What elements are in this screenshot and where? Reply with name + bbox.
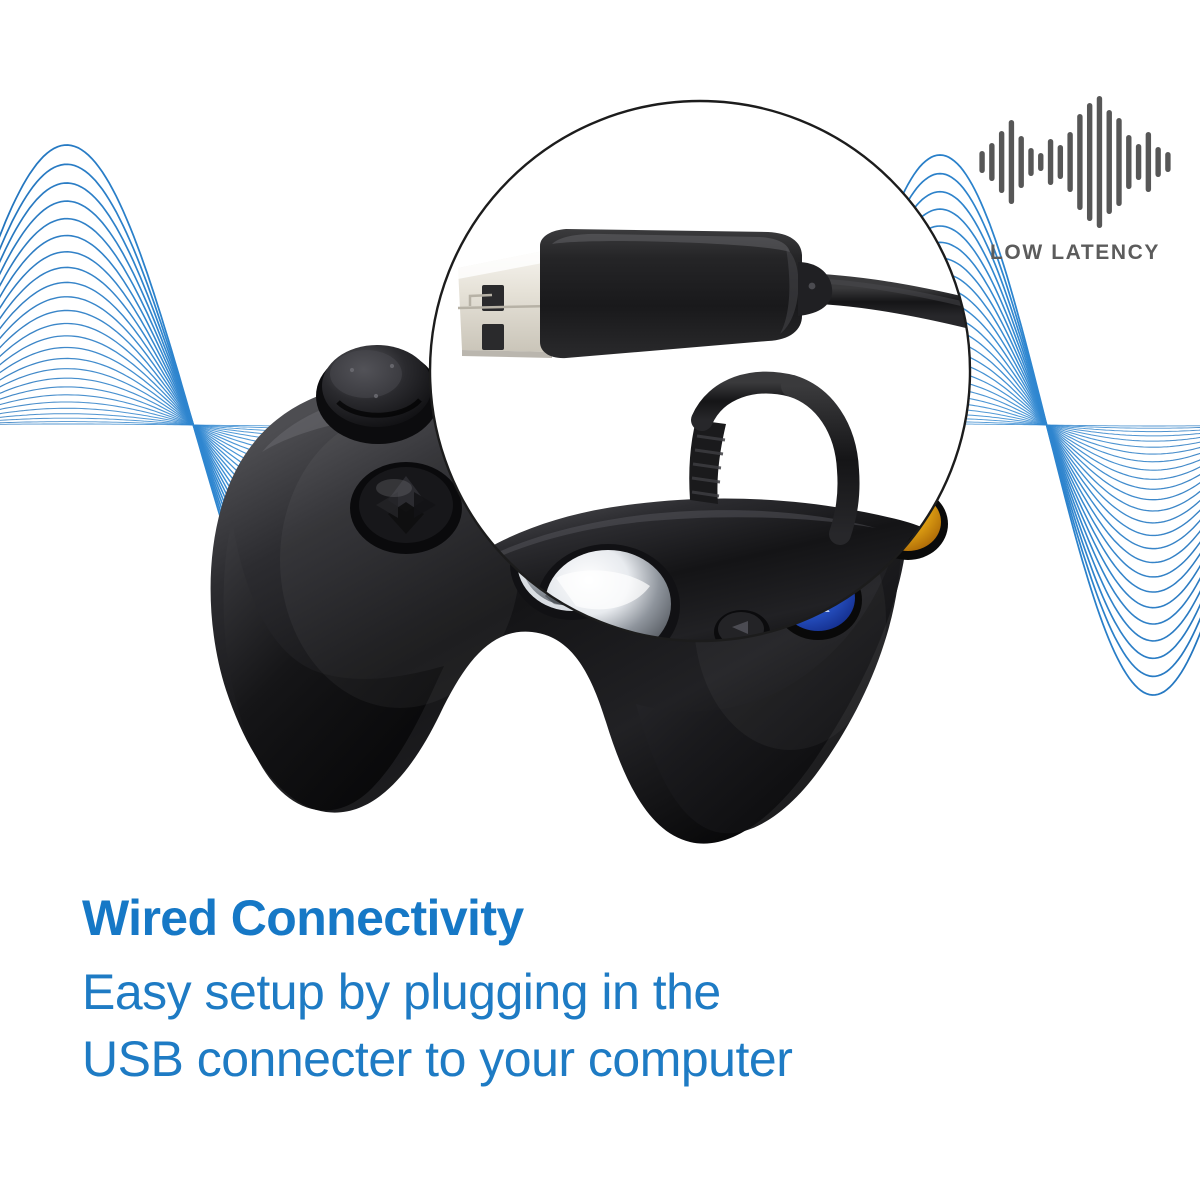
caption-body: Easy setup by plugging in the USB connec… [82, 959, 1122, 1093]
low-latency-label: LOW LATENCY [975, 242, 1175, 263]
usb-a-metal-tip [458, 250, 552, 358]
directional-pad[interactable] [350, 462, 462, 554]
left-analog-stick[interactable] [316, 345, 440, 444]
caption-block: Wired Connectivity Easy setup by pluggin… [82, 893, 1122, 1093]
caption-body-line-2: USB connecter to your computer [82, 1026, 1122, 1093]
product-feature-card: X [0, 0, 1200, 1200]
caption-body-line-1: Easy setup by plugging in the [82, 959, 1122, 1026]
low-latency-badge: LOW LATENCY [975, 96, 1175, 263]
audio-waveform-icon [975, 96, 1175, 228]
caption-title: Wired Connectivity [82, 893, 1122, 943]
